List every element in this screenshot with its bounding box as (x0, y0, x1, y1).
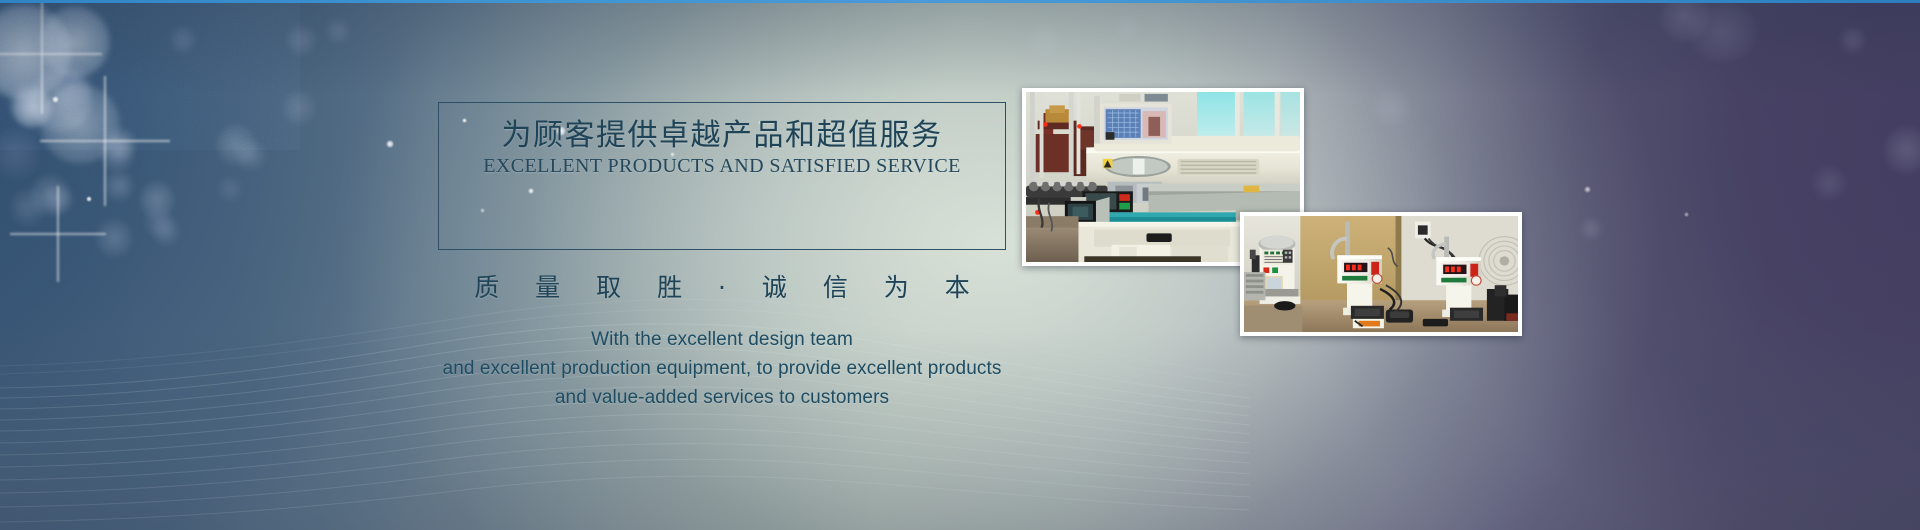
promo-banner: 为顾客提供卓越产品和超值服务 EXCELLENT PRODUCTS AND SA… (0, 0, 1920, 530)
photo-press-machines[interactable] (1240, 212, 1522, 336)
slogan-chinese: 质 量 取 胜 · 诚 信 为 本 (438, 268, 1006, 304)
photo-press-machines-image (1244, 216, 1518, 332)
description-line-1: With the excellent design team (338, 325, 1106, 354)
description-line-2: and excellent production equipment, to p… (338, 354, 1106, 383)
headline-english: EXCELLENT PRODUCTS AND SATISFIED SERVICE (438, 155, 1006, 178)
description-line-3: and value-added services to customers (338, 383, 1106, 412)
headline-chinese: 为顾客提供卓越产品和超值服务 (438, 110, 1006, 154)
description-paragraph: With the excellent design team and excel… (338, 325, 1106, 412)
top-accent-rule (0, 0, 1920, 3)
